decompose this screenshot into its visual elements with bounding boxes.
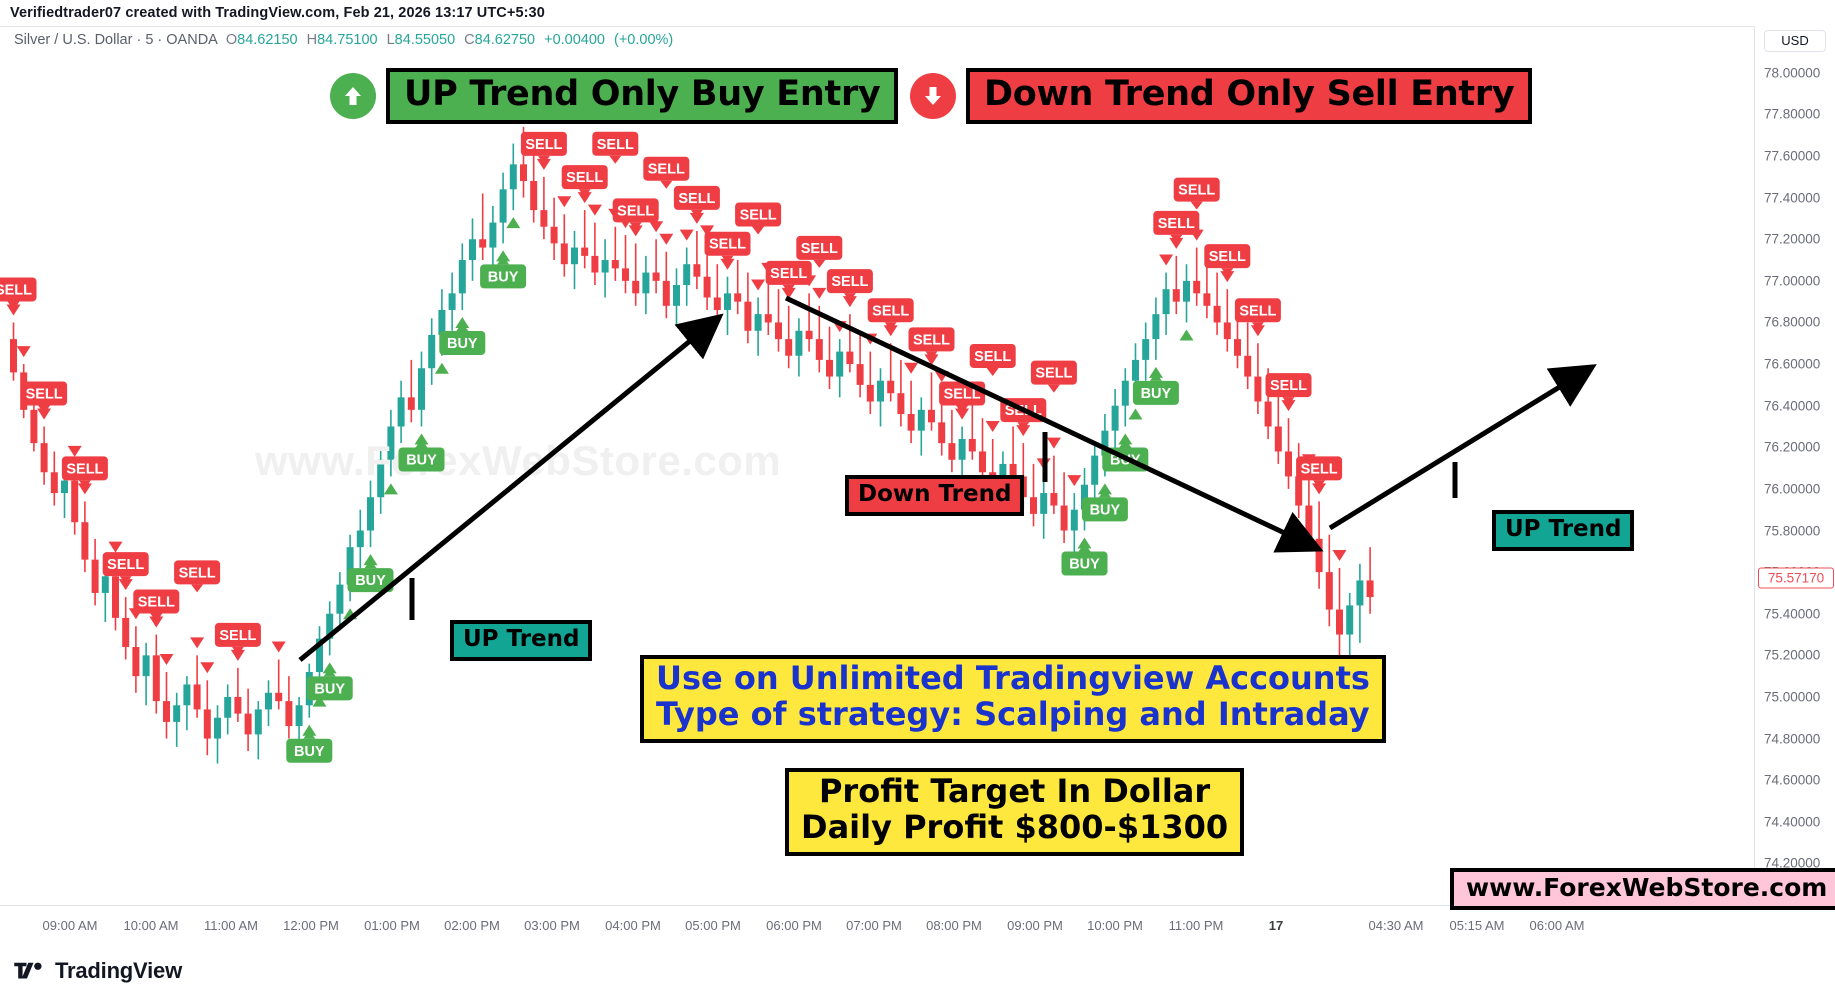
svg-text:BUY: BUY — [355, 573, 386, 589]
price-tick: 77.40000 — [1755, 190, 1835, 205]
buy-label: BUY — [480, 256, 526, 288]
tag-down-trend: Down Trend — [845, 475, 1024, 516]
price-tick: 77.80000 — [1755, 107, 1835, 122]
sell-label: SELL — [521, 132, 567, 164]
buy-marker — [343, 608, 357, 619]
sell-label: SELL — [735, 202, 781, 234]
sell-marker — [935, 371, 949, 382]
sell-label: SELL — [1000, 398, 1046, 430]
price-tick: 78.00000 — [1755, 65, 1835, 80]
sell-label: SELL — [1204, 244, 1250, 276]
price-tick: 76.20000 — [1755, 440, 1835, 455]
time-tick: 04:30 AM — [1369, 918, 1424, 933]
svg-text:SELL: SELL — [566, 170, 603, 186]
price-tick: 77.60000 — [1755, 149, 1835, 164]
tag-up-trend-1: UP Trend — [450, 620, 592, 661]
time-tick: 10:00 PM — [1087, 918, 1143, 933]
svg-text:SELL: SELL — [66, 461, 103, 477]
time-tick: 17 — [1269, 918, 1283, 933]
sell-marker — [649, 221, 663, 232]
svg-text:BUY: BUY — [447, 336, 478, 352]
promo-accounts-line1: Use on Unlimited Tradingview Accounts — [656, 661, 1370, 697]
sell-marker — [160, 654, 174, 665]
sell-marker — [812, 288, 826, 299]
sell-marker — [751, 279, 765, 290]
sell-label: SELL — [1031, 361, 1077, 393]
sell-marker — [659, 234, 673, 245]
sell-marker — [109, 542, 123, 553]
arrow-up-circle-icon — [330, 73, 376, 119]
sell-marker — [1333, 550, 1347, 561]
buy-label: BUY — [1133, 373, 1179, 405]
time-tick: 09:00 PM — [1007, 918, 1063, 933]
high-key: H — [307, 32, 317, 48]
sell-marker — [1067, 475, 1081, 486]
sell-label: SELL — [1296, 456, 1342, 488]
buy-marker — [384, 483, 398, 494]
time-tick: 05:15 AM — [1450, 918, 1505, 933]
sell-label: SELL — [939, 381, 985, 413]
sell-label: SELL — [103, 552, 149, 584]
time-tick: 03:00 PM — [524, 918, 580, 933]
sell-marker — [986, 421, 1000, 432]
buy-label: BUY — [286, 731, 332, 763]
svg-text:SELL: SELL — [525, 137, 562, 153]
svg-text:SELL: SELL — [138, 595, 175, 611]
tradingview-logo: TradingView — [14, 958, 182, 984]
svg-text:SELL: SELL — [913, 332, 950, 348]
sell-marker — [68, 446, 82, 457]
time-tick: 07:00 PM — [846, 918, 902, 933]
buy-marker — [1180, 329, 1194, 340]
sell-marker — [200, 662, 214, 673]
svg-text:SELL: SELL — [219, 628, 256, 644]
sell-label: SELL — [674, 186, 720, 218]
svg-text:BUY: BUY — [1110, 452, 1141, 468]
svg-text:SELL: SELL — [944, 386, 981, 402]
tag-up-trend-2: UP Trend — [1492, 510, 1634, 551]
buy-label: BUY — [399, 439, 445, 471]
svg-text:SELL: SELL — [179, 565, 216, 581]
sell-marker — [833, 321, 847, 332]
sell-marker — [1037, 458, 1051, 469]
svg-text:SELL: SELL — [107, 557, 144, 573]
ohlc-values: O84.62150H84.75100L84.55050C84.62750+0.0… — [226, 32, 682, 48]
price-tick: 77.00000 — [1755, 273, 1835, 288]
svg-text:SELL: SELL — [617, 203, 654, 219]
sell-marker — [272, 642, 286, 653]
time-tick: 12:00 PM — [283, 918, 339, 933]
sell-label: SELL — [1266, 373, 1312, 405]
sell-marker — [588, 205, 602, 216]
svg-text:SELL: SELL — [801, 241, 838, 257]
time-tick: 01:00 PM — [364, 918, 420, 933]
buy-label: BUY — [1102, 439, 1148, 471]
svg-text:SELL: SELL — [26, 386, 63, 402]
website-badge: www.ForexWebStore.com — [1450, 868, 1835, 910]
buy-label: BUY — [307, 668, 353, 700]
time-tick: 05:00 PM — [685, 918, 741, 933]
current-price-label: 75.57170 — [1758, 568, 1834, 589]
svg-text:SELL: SELL — [1270, 378, 1307, 394]
buy-label: BUY — [1062, 544, 1108, 576]
price-tick: 76.00000 — [1755, 481, 1835, 496]
svg-text:BUY: BUY — [1069, 557, 1100, 573]
time-tick: 04:00 PM — [605, 918, 661, 933]
svg-text:SELL: SELL — [597, 137, 634, 153]
price-tick: 75.40000 — [1755, 606, 1835, 621]
tradingview-chart-screenshot: Verifiedtrader07 created with TradingVie… — [0, 0, 1835, 996]
price-tick: 76.60000 — [1755, 357, 1835, 372]
time-tick: 06:00 AM — [1530, 918, 1585, 933]
chart-legend-bar: Silver / U.S. Dollar · 5 · OANDA O84.621… — [0, 26, 1754, 52]
sell-label: SELL — [62, 456, 108, 488]
low-key: L — [387, 32, 395, 48]
sell-marker — [1159, 255, 1173, 266]
svg-text:BUY: BUY — [294, 744, 325, 760]
time-tick: 11:00 AM — [204, 918, 258, 933]
time-tick: 02:00 PM — [444, 918, 500, 933]
sell-marker — [863, 334, 877, 345]
svg-text:SELL: SELL — [770, 266, 807, 282]
svg-text:SELL: SELL — [1209, 249, 1246, 265]
time-tick: 08:00 PM — [926, 918, 982, 933]
sell-marker — [1047, 438, 1061, 449]
tradingview-mark-icon — [14, 961, 46, 982]
sell-label: SELL — [909, 327, 955, 359]
svg-text:SELL: SELL — [1158, 216, 1195, 232]
price-tick: 74.80000 — [1755, 731, 1835, 746]
sell-marker — [190, 637, 204, 648]
open-key: O — [226, 32, 237, 48]
sell-marker — [904, 363, 918, 374]
close-value: 84.62750 — [475, 32, 535, 48]
svg-text:BUY: BUY — [314, 681, 345, 697]
svg-text:SELL: SELL — [678, 191, 715, 207]
sell-label: SELL — [613, 198, 659, 230]
low-value: 84.55050 — [395, 32, 455, 48]
sell-label: SELL — [766, 261, 812, 293]
svg-text:SELL: SELL — [872, 303, 909, 319]
price-tick: 75.80000 — [1755, 523, 1835, 538]
svg-text:SELL: SELL — [1301, 461, 1338, 477]
promo-profit-line1: Profit Target In Dollar — [801, 774, 1228, 810]
time-tick: 11:00 PM — [1169, 918, 1224, 933]
sell-marker — [17, 346, 31, 357]
sell-label: SELL — [215, 623, 261, 655]
svg-text:SELL: SELL — [1178, 183, 1215, 199]
svg-text:SELL: SELL — [648, 162, 685, 178]
high-value: 84.75100 — [317, 32, 377, 48]
buy-label: BUY — [348, 560, 394, 592]
change-percent: (+0.00%) — [614, 32, 673, 48]
sell-label: SELL — [643, 157, 689, 189]
sell-marker — [680, 230, 694, 241]
price-tick: 74.60000 — [1755, 773, 1835, 788]
symbol-label[interactable]: Silver / U.S. Dollar · 5 · OANDA — [14, 32, 218, 48]
sell-label: SELL — [133, 590, 179, 622]
svg-text:SELL: SELL — [1239, 303, 1276, 319]
svg-text:SELL: SELL — [0, 282, 32, 298]
tradingview-wordmark: TradingView — [55, 958, 182, 984]
price-tick: 75.20000 — [1755, 648, 1835, 663]
buy-label: BUY — [439, 323, 485, 355]
down-trend-banner: Down Trend Only Sell Entry — [910, 68, 1532, 124]
svg-text:SELL: SELL — [1005, 403, 1042, 419]
sell-label: SELL — [174, 560, 220, 592]
svg-text:SELL: SELL — [831, 274, 868, 290]
sell-label: SELL — [970, 344, 1016, 376]
sell-label: SELL — [562, 165, 608, 197]
buy-label: BUY — [1082, 489, 1128, 521]
svg-text:SELL: SELL — [740, 207, 777, 223]
up-trend-banner-label: UP Trend Only Buy Entry — [386, 68, 898, 124]
price-tick: 76.40000 — [1755, 398, 1835, 413]
sell-label: SELL — [868, 298, 914, 330]
promo-profit-line2: Daily Profit $800-$1300 — [801, 810, 1228, 846]
sell-label: SELL — [705, 232, 751, 264]
buy-marker — [1129, 409, 1143, 420]
promo-profit-box: Profit Target In Dollar Daily Profit $80… — [785, 768, 1244, 856]
promo-accounts-box: Use on Unlimited Tradingview Accounts Ty… — [640, 655, 1386, 743]
promo-accounts-line2: Type of strategy: Scalping and Intraday — [656, 697, 1370, 733]
price-axis[interactable]: USD 78.0000077.8000077.6000077.4000077.2… — [1754, 26, 1835, 905]
close-key: C — [464, 32, 474, 48]
price-tick: 77.20000 — [1755, 232, 1835, 247]
arrow-down-circle-icon — [910, 73, 956, 119]
up-trend-banner: UP Trend Only Buy Entry — [330, 68, 898, 124]
time-tick: 09:00 AM — [43, 918, 98, 933]
currency-chip[interactable]: USD — [1764, 30, 1826, 52]
buy-marker — [506, 217, 520, 228]
change-value: +0.00400 — [544, 32, 605, 48]
sell-label: SELL — [592, 132, 638, 164]
svg-text:SELL: SELL — [1035, 366, 1072, 382]
time-axis[interactable]: 09:00 AM10:00 AM11:00 AM12:00 PM01:00 PM… — [0, 905, 1835, 950]
svg-text:BUY: BUY — [1141, 386, 1172, 402]
price-tick: 76.80000 — [1755, 315, 1835, 330]
price-tick: 75.00000 — [1755, 689, 1835, 704]
price-tick: 74.40000 — [1755, 814, 1835, 829]
sell-label: SELL — [1153, 211, 1199, 243]
svg-text:BUY: BUY — [406, 452, 437, 468]
svg-text:SELL: SELL — [709, 237, 746, 253]
svg-text:BUY: BUY — [488, 269, 519, 285]
buy-marker — [435, 363, 449, 374]
down-trend-banner-label: Down Trend Only Sell Entry — [966, 68, 1532, 124]
sell-label: SELL — [1235, 298, 1281, 330]
open-value: 84.62150 — [237, 32, 297, 48]
sell-label: SELL — [827, 269, 873, 301]
svg-text:SELL: SELL — [974, 349, 1011, 365]
time-tick: 10:00 AM — [124, 918, 179, 933]
sell-label: SELL — [1174, 178, 1220, 210]
attribution-text: Verifiedtrader07 created with TradingVie… — [10, 5, 545, 21]
sell-marker — [557, 196, 571, 207]
svg-text:BUY: BUY — [1090, 502, 1121, 518]
time-tick: 06:00 PM — [766, 918, 822, 933]
sell-label: SELL — [21, 381, 67, 413]
